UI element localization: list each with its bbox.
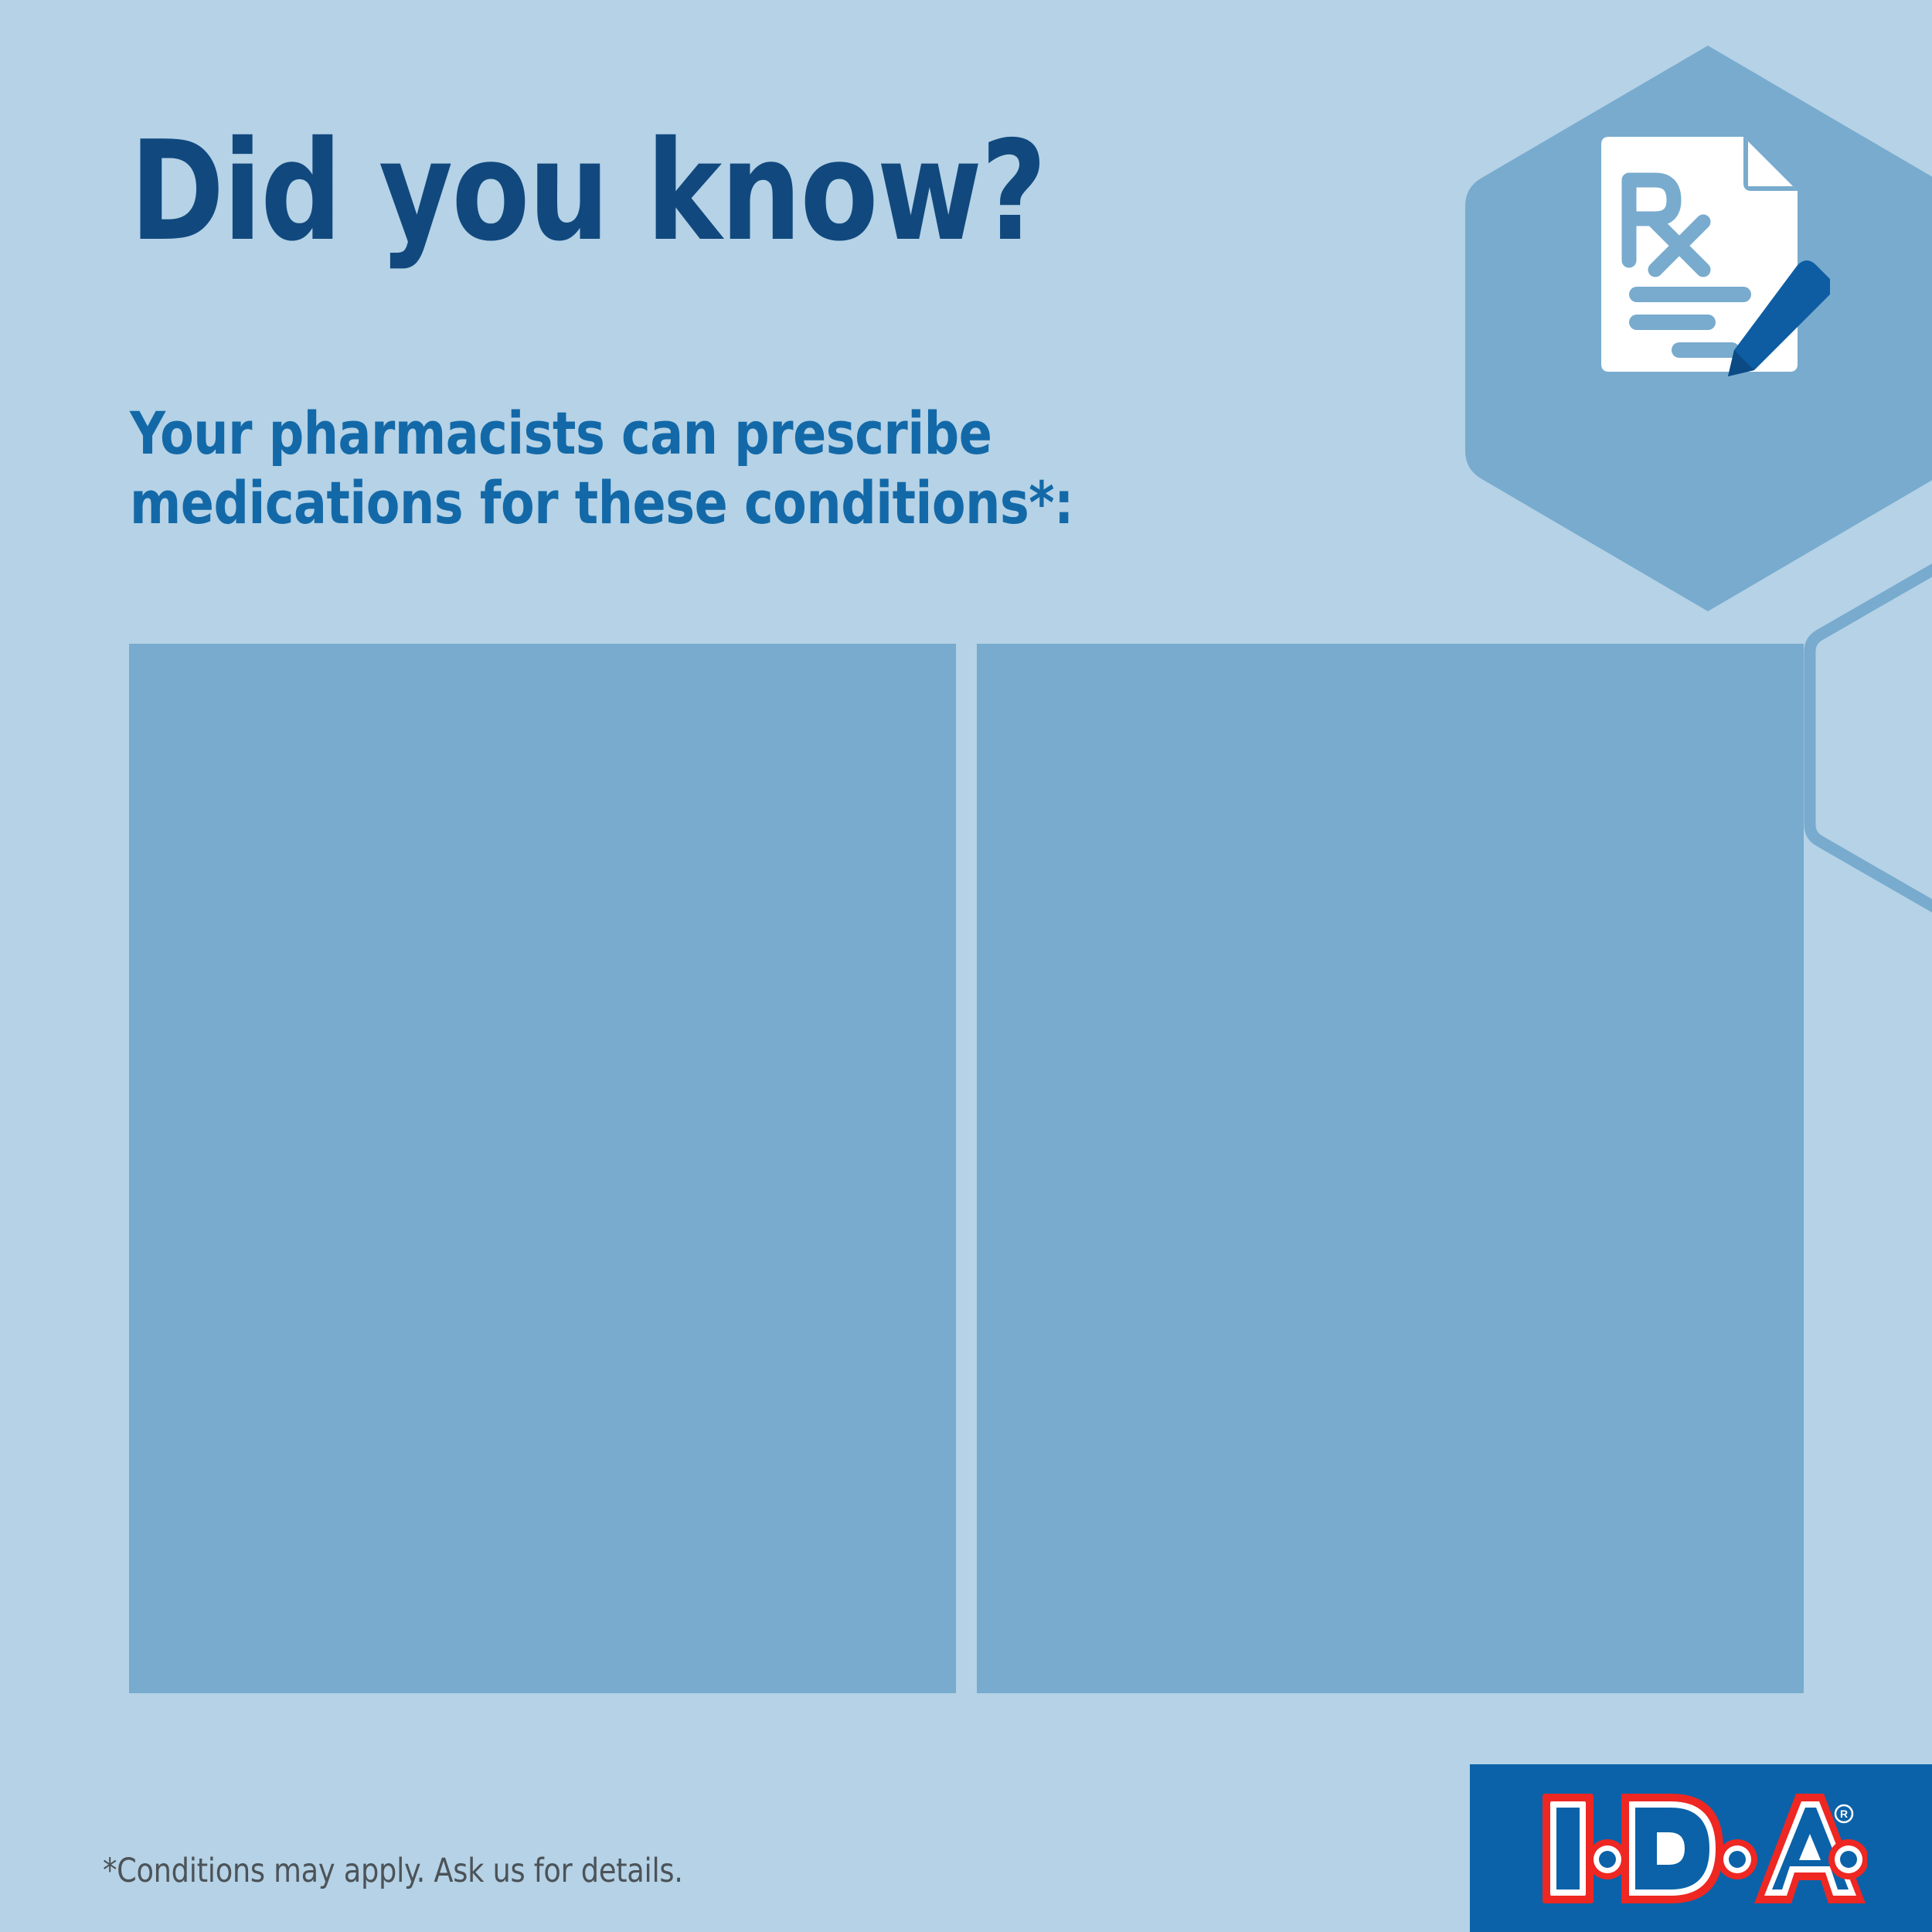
footnote-disclaimer: *Conditions may apply. Ask us for detail…	[103, 1852, 683, 1890]
conditions-panel-right-content	[977, 644, 1804, 1693]
page-subtitle-line-1: Your pharmacists can prescribe	[130, 399, 1073, 468]
conditions-panel-right	[977, 644, 1804, 1693]
svg-text:R: R	[1840, 1808, 1848, 1820]
ida-logo-icon: R	[1541, 1792, 1867, 1905]
conditions-panel-left-content	[129, 644, 956, 1693]
ida-logo-box: R	[1470, 1764, 1932, 1932]
page-title: Did you know?	[130, 120, 1046, 264]
conditions-panel-left	[129, 644, 956, 1693]
page-subtitle-line-2: medications for these conditions*:	[130, 468, 1073, 538]
rx-prescription-pen-icon	[1575, 135, 1830, 390]
hexagon-outline-icon	[1801, 541, 1932, 935]
poster-canvas: Did you know? Your pharmacists can presc…	[0, 0, 1932, 1932]
page-subtitle: Your pharmacists can prescribe medicatio…	[130, 399, 1073, 537]
